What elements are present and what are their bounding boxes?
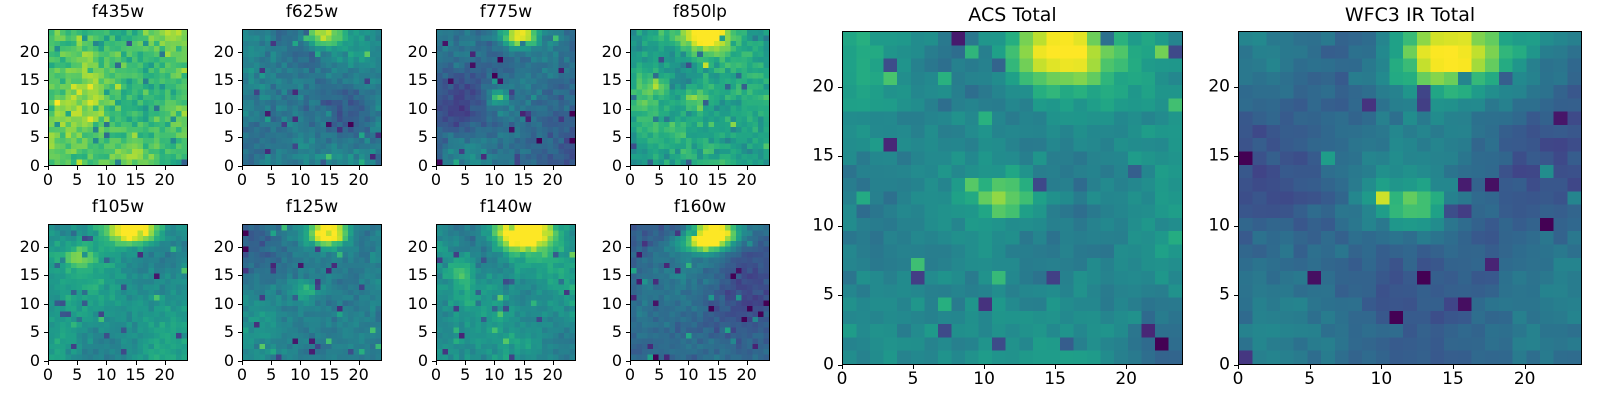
y-tick-mark (626, 247, 630, 248)
y-tick-mark (626, 166, 630, 167)
y-tick-mark (838, 226, 842, 227)
y-tick-mark (432, 304, 436, 305)
y-tick-label: 0 (376, 352, 428, 370)
x-tick-label: 15 (513, 366, 533, 384)
x-tick-label: 15 (707, 171, 727, 189)
y-tick-label: 20 (0, 43, 40, 61)
x-tick-label: 0 (431, 171, 441, 189)
heatmap-image-wfc3_ir_total (1239, 32, 1581, 364)
x-tick-label: 0 (625, 171, 635, 189)
x-tick-label: 15 (319, 366, 339, 384)
y-tick-label: 15 (376, 266, 428, 284)
y-tick-label: 20 (570, 43, 622, 61)
x-tick-label: 5 (72, 171, 82, 189)
y-tick-mark (626, 80, 630, 81)
y-tick-label: 5 (376, 128, 428, 146)
x-tick-label: 5 (1304, 370, 1315, 389)
y-tick-mark (44, 332, 48, 333)
x-tick-label: 10 (1371, 370, 1393, 389)
y-tick-label: 0 (570, 352, 622, 370)
y-tick-label: 20 (782, 77, 834, 96)
y-tick-label: 5 (182, 323, 234, 341)
x-tick-label: 20 (1514, 370, 1536, 389)
x-tick-label: 5 (908, 370, 919, 389)
panel-f625w: f625w0510152005101520 (182, 3, 382, 192)
y-tick-label: 20 (376, 43, 428, 61)
y-tick-label: 15 (782, 147, 834, 166)
x-tick-label: 0 (43, 366, 53, 384)
y-tick-mark (44, 52, 48, 53)
image-axes-acs_total (842, 31, 1183, 365)
heatmap-image-f435w (49, 30, 187, 165)
y-tick-mark (432, 137, 436, 138)
x-tick-label: 10 (484, 171, 504, 189)
y-tick-mark (44, 275, 48, 276)
y-tick-mark (44, 80, 48, 81)
x-tick-label: 20 (154, 366, 174, 384)
y-tick-label: 15 (182, 266, 234, 284)
y-tick-label: 10 (182, 100, 234, 118)
x-tick-label: 5 (654, 366, 664, 384)
panel-title-f105w: f105w (48, 199, 188, 216)
figure-canvas: f435w0510152005101520f625w05101520051015… (0, 0, 1600, 400)
y-tick-label: 5 (376, 323, 428, 341)
panel-f775w: f775w0510152005101520 (376, 3, 576, 192)
y-tick-label: 0 (0, 352, 40, 370)
y-tick-mark (238, 304, 242, 305)
y-tick-mark (1234, 226, 1238, 227)
panel-f435w: f435w0510152005101520 (0, 3, 188, 192)
y-tick-mark (626, 332, 630, 333)
image-axes-f105w (48, 224, 188, 361)
y-tick-label: 5 (182, 128, 234, 146)
y-tick-label: 20 (376, 238, 428, 256)
y-tick-mark (626, 361, 630, 362)
y-tick-label: 0 (0, 157, 40, 175)
y-tick-label: 0 (182, 352, 234, 370)
y-tick-mark (432, 275, 436, 276)
y-tick-label: 0 (1178, 356, 1230, 375)
y-tick-mark (432, 332, 436, 333)
x-tick-label: 0 (431, 366, 441, 384)
y-tick-label: 15 (570, 266, 622, 284)
y-tick-label: 15 (0, 266, 40, 284)
x-tick-label: 10 (290, 171, 310, 189)
y-tick-mark (44, 166, 48, 167)
x-tick-label: 20 (348, 366, 368, 384)
y-tick-mark (626, 275, 630, 276)
y-tick-label: 10 (0, 295, 40, 313)
y-tick-mark (1234, 87, 1238, 88)
y-tick-label: 10 (376, 295, 428, 313)
y-tick-label: 5 (782, 286, 834, 305)
x-tick-label: 20 (542, 366, 562, 384)
y-tick-mark (44, 109, 48, 110)
y-tick-label: 20 (1178, 77, 1230, 96)
y-tick-mark (432, 166, 436, 167)
heatmap-image-acs_total (843, 32, 1182, 364)
x-tick-label: 15 (707, 366, 727, 384)
y-tick-mark (238, 109, 242, 110)
panel-f160w: f160w0510152005101520 (570, 198, 770, 387)
panel-f105w: f105w0510152005101520 (0, 198, 188, 387)
x-tick-label: 10 (484, 366, 504, 384)
x-tick-label: 10 (678, 366, 698, 384)
y-tick-mark (238, 275, 242, 276)
heatmap-image-f775w (437, 30, 575, 165)
x-tick-label: 0 (625, 366, 635, 384)
y-tick-label: 10 (782, 216, 834, 235)
x-tick-label: 20 (736, 366, 756, 384)
y-tick-label: 5 (1178, 286, 1230, 305)
y-tick-mark (626, 109, 630, 110)
y-tick-mark (432, 52, 436, 53)
y-tick-label: 0 (570, 157, 622, 175)
image-axes-f140w (436, 224, 576, 361)
image-axes-f625w (242, 29, 382, 166)
x-tick-label: 10 (96, 366, 116, 384)
y-tick-label: 20 (570, 238, 622, 256)
heatmap-image-f105w (49, 225, 187, 360)
y-tick-label: 5 (570, 323, 622, 341)
y-tick-label: 15 (570, 71, 622, 89)
heatmap-image-f125w (243, 225, 381, 360)
panel-f125w: f125w0510152005101520 (182, 198, 382, 387)
y-tick-mark (238, 332, 242, 333)
y-tick-label: 15 (0, 71, 40, 89)
heatmap-image-f850lp (631, 30, 769, 165)
x-tick-label: 20 (736, 171, 756, 189)
y-tick-label: 10 (570, 100, 622, 118)
image-axes-f850lp (630, 29, 770, 166)
y-tick-label: 0 (782, 356, 834, 375)
panel-f850lp: f850lp0510152005101520 (570, 3, 770, 192)
y-tick-label: 5 (0, 323, 40, 341)
panel-title-f140w: f140w (436, 199, 576, 216)
panel-f140w: f140w0510152005101520 (376, 198, 576, 387)
y-tick-mark (238, 247, 242, 248)
x-tick-label: 15 (1442, 370, 1464, 389)
y-tick-mark (432, 80, 436, 81)
y-tick-mark (432, 247, 436, 248)
x-tick-label: 5 (72, 366, 82, 384)
y-tick-mark (432, 361, 436, 362)
y-tick-label: 20 (182, 238, 234, 256)
y-tick-label: 0 (182, 157, 234, 175)
panel-title-f850lp: f850lp (630, 4, 770, 21)
y-tick-mark (626, 137, 630, 138)
y-tick-mark (1234, 295, 1238, 296)
y-tick-mark (44, 247, 48, 248)
x-tick-label: 10 (973, 370, 995, 389)
x-tick-label: 5 (460, 171, 470, 189)
y-tick-mark (626, 52, 630, 53)
x-tick-label: 5 (460, 366, 470, 384)
y-tick-mark (238, 137, 242, 138)
x-tick-label: 15 (125, 171, 145, 189)
x-tick-label: 20 (542, 171, 562, 189)
image-axes-f125w (242, 224, 382, 361)
x-tick-label: 0 (237, 366, 247, 384)
x-tick-label: 10 (678, 171, 698, 189)
x-tick-label: 0 (1233, 370, 1244, 389)
x-tick-label: 5 (654, 171, 664, 189)
x-tick-label: 5 (266, 366, 276, 384)
panel-title-f125w: f125w (242, 199, 382, 216)
y-tick-label: 5 (570, 128, 622, 146)
y-tick-mark (238, 52, 242, 53)
x-tick-label: 15 (1044, 370, 1066, 389)
y-tick-mark (838, 295, 842, 296)
y-tick-label: 10 (182, 295, 234, 313)
panel-acs_total: ACS Total0510152005101520 (782, 5, 1183, 391)
y-tick-label: 20 (182, 43, 234, 61)
y-tick-label: 10 (376, 100, 428, 118)
image-axes-f775w (436, 29, 576, 166)
x-tick-label: 20 (1115, 370, 1137, 389)
y-tick-mark (432, 109, 436, 110)
panel-title-wfc3_ir_total: WFC3 IR Total (1238, 6, 1582, 25)
heatmap-image-f160w (631, 225, 769, 360)
y-tick-label: 15 (182, 71, 234, 89)
y-tick-mark (238, 361, 242, 362)
panel-title-f160w: f160w (630, 199, 770, 216)
y-tick-label: 10 (1178, 216, 1230, 235)
x-tick-label: 5 (266, 171, 276, 189)
y-tick-mark (1234, 365, 1238, 366)
x-tick-label: 10 (96, 171, 116, 189)
x-tick-label: 15 (319, 171, 339, 189)
x-tick-label: 15 (125, 366, 145, 384)
y-tick-mark (838, 156, 842, 157)
image-axes-wfc3_ir_total (1238, 31, 1582, 365)
image-axes-f160w (630, 224, 770, 361)
panel-title-acs_total: ACS Total (842, 6, 1183, 25)
panel-title-f435w: f435w (48, 4, 188, 21)
y-tick-label: 10 (0, 100, 40, 118)
y-tick-label: 15 (1178, 147, 1230, 166)
y-tick-label: 10 (570, 295, 622, 313)
x-tick-label: 0 (237, 171, 247, 189)
y-tick-mark (1234, 156, 1238, 157)
panel-title-f775w: f775w (436, 4, 576, 21)
y-tick-mark (626, 304, 630, 305)
x-tick-label: 15 (513, 171, 533, 189)
heatmap-image-f140w (437, 225, 575, 360)
y-tick-mark (44, 137, 48, 138)
heatmap-image-f625w (243, 30, 381, 165)
y-tick-label: 20 (0, 238, 40, 256)
panel-wfc3_ir_total: WFC3 IR Total0510152005101520 (1178, 5, 1582, 391)
x-tick-label: 20 (348, 171, 368, 189)
x-tick-label: 10 (290, 366, 310, 384)
y-tick-mark (838, 87, 842, 88)
image-axes-f435w (48, 29, 188, 166)
x-tick-label: 0 (43, 171, 53, 189)
y-tick-label: 15 (376, 71, 428, 89)
x-tick-label: 20 (154, 171, 174, 189)
y-tick-label: 0 (376, 157, 428, 175)
y-tick-mark (44, 361, 48, 362)
y-tick-label: 5 (0, 128, 40, 146)
panel-title-f625w: f625w (242, 4, 382, 21)
x-tick-label: 0 (837, 370, 848, 389)
y-tick-mark (238, 80, 242, 81)
y-tick-mark (838, 365, 842, 366)
y-tick-mark (238, 166, 242, 167)
y-tick-mark (44, 304, 48, 305)
